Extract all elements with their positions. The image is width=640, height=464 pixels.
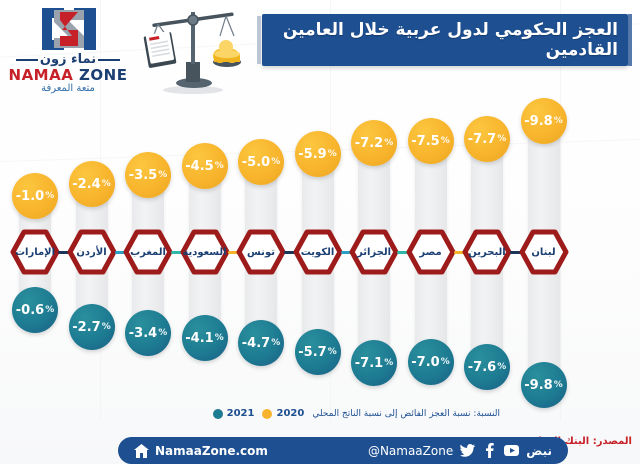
country-hexagon[interactable]: الكويت: [293, 229, 343, 275]
country-label: الإمارات: [10, 229, 60, 275]
logo-namaa: NAMAA: [9, 66, 80, 84]
social-handle[interactable]: @NamaaZone: [368, 444, 453, 458]
legend-label-2021: 2021: [227, 408, 255, 419]
value-bubble-2021: -9.8%: [521, 362, 567, 408]
infographic-canvas: نماء زون NAMAA ZONE متعة المعرفة: [0, 0, 640, 464]
legend-item-2021: 2021: [213, 408, 255, 419]
value-bubble-2020: -2.4%: [69, 161, 115, 207]
value-bubble-2020: -9.8%: [521, 98, 567, 144]
title-banner: العجز الحكومي لدول عربية خلال العامين ال…: [262, 14, 628, 66]
balance-scale-icon: [138, 4, 242, 96]
country-hexagon[interactable]: تونس: [236, 229, 286, 275]
legend-item-2020: 2020: [262, 408, 304, 419]
legend-note: النسبة: نسبة العجز الفائض إلى نسبة النات…: [312, 409, 500, 419]
legend-dot-2020: [262, 409, 272, 419]
value-bubble-2021: -5.7%: [295, 329, 341, 375]
country-column: -7.5%-7.0%مصر: [408, 96, 454, 408]
country-label: مصر: [406, 229, 456, 275]
chart-legend: النسبة: نسبة العجز الفائض إلى نسبة النات…: [213, 408, 500, 419]
value-bubble-2021: -2.7%: [69, 304, 115, 350]
value-bubble-2021: -7.6%: [464, 344, 510, 390]
value-bubble-2020: -1.0%: [12, 173, 58, 219]
country-hexagon[interactable]: لبنان: [519, 229, 569, 275]
value-bubble-2021: -4.7%: [238, 320, 284, 366]
country-column: -1.0%-0.6%الإمارات: [12, 96, 58, 408]
country-label: لبنان: [519, 229, 569, 275]
country-label: الأردن: [67, 229, 117, 275]
logo-zone: ZONE: [79, 66, 127, 84]
value-bubble-2020: -3.5%: [125, 152, 171, 198]
value-bubble-2020: -5.9%: [295, 131, 341, 177]
country-column: -3.5%-3.4%المغرب: [125, 96, 171, 408]
country-label: الكويت: [293, 229, 343, 275]
value-bubble-2020: -4.5%: [182, 143, 228, 189]
namaa-z-mark-icon: [38, 6, 100, 52]
country-hexagon[interactable]: المغرب: [123, 229, 173, 275]
twitter-icon[interactable]: [460, 443, 475, 458]
country-hexagon[interactable]: الإمارات: [10, 229, 60, 275]
value-bubble-2020: -7.2%: [351, 120, 397, 166]
country-column: -7.2%-7.1%الجزائر: [351, 96, 397, 408]
website-label[interactable]: NamaaZone.com: [155, 444, 268, 458]
nabd-label: نبض: [526, 444, 552, 458]
value-bubble-2021: -3.4%: [125, 310, 171, 356]
footer-bar: نبض @NamaaZone NamaaZone.com: [118, 437, 568, 464]
value-bubble-2020: -7.5%: [408, 118, 454, 164]
country-column: -4.5%-4.1%السعودية: [182, 96, 228, 408]
country-label: الجزائر: [349, 229, 399, 275]
country-hexagon[interactable]: مصر: [406, 229, 456, 275]
value-bubble-2021: -0.6%: [12, 287, 58, 333]
country-hexagon[interactable]: البحرين: [462, 229, 512, 275]
country-hexagon[interactable]: الجزائر: [349, 229, 399, 275]
logo-tagline: متعة المعرفة: [8, 83, 128, 94]
country-column: -9.8%-9.8%لبنان: [521, 96, 567, 408]
country-label: السعودية: [180, 229, 230, 275]
value-bubble-2021: -7.0%: [408, 339, 454, 385]
namaa-zone-logo: نماء زون NAMAA ZONE متعة المعرفة: [8, 4, 128, 96]
footer-website-group[interactable]: NamaaZone.com: [134, 443, 268, 458]
country-label: تونس: [236, 229, 286, 275]
footer-social-group: نبض @NamaaZone: [368, 443, 552, 458]
country-column: -5.0%-4.7%تونس: [238, 96, 284, 408]
country-hexagon[interactable]: الأردن: [67, 229, 117, 275]
legend-label-2020: 2020: [276, 408, 304, 419]
country-hexagon[interactable]: السعودية: [180, 229, 230, 275]
deficit-chart: -1.0%-0.6%الإمارات-2.4%-2.7%الأردن-3.5%-…: [0, 96, 640, 408]
country-column: -5.9%-5.7%الكويت: [295, 96, 341, 408]
logo-name-english: NAMAA ZONE: [8, 66, 128, 84]
country-label: البحرين: [462, 229, 512, 275]
value-bubble-2021: -7.1%: [351, 340, 397, 386]
value-bubble-2020: -5.0%: [238, 139, 284, 185]
home-icon: [134, 443, 149, 458]
page-title: العجز الحكومي لدول عربية خلال العامين ال…: [262, 14, 628, 66]
legend-dot-2021: [213, 409, 223, 419]
country-column: -2.4%-2.7%الأردن: [69, 96, 115, 408]
logo-name-arabic: نماء زون: [8, 52, 128, 67]
youtube-icon[interactable]: [504, 443, 519, 458]
value-bubble-2021: -4.1%: [182, 315, 228, 361]
country-label: المغرب: [123, 229, 173, 275]
value-bubble-2020: -7.7%: [464, 116, 510, 162]
country-column: -7.7%-7.6%البحرين: [464, 96, 510, 408]
facebook-icon[interactable]: [482, 443, 497, 458]
